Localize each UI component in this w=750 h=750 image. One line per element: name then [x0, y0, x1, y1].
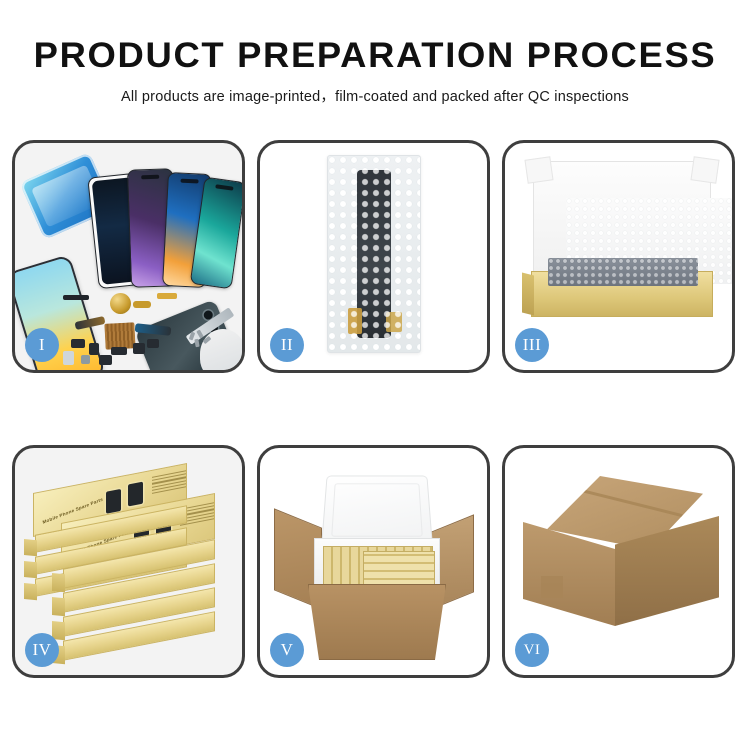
panel-badge-6: VI: [515, 633, 549, 667]
small-part: [89, 343, 99, 355]
bubble-wrapped-contents: [548, 258, 698, 286]
box-side-panel: [522, 273, 534, 316]
open-carton: [274, 466, 474, 664]
notch-icon: [180, 179, 198, 184]
header: PRODUCT PREPARATION PROCESS All products…: [0, 0, 750, 106]
panel-sealed-carton[interactable]: VI: [502, 445, 735, 678]
connector-part: [157, 293, 177, 299]
small-part: [147, 339, 159, 348]
panel-bubble-wrap[interactable]: II: [257, 140, 490, 373]
yellow-boxes-row: [363, 551, 435, 587]
small-part: [71, 339, 85, 348]
box-label-image: [128, 482, 143, 507]
box-side: [24, 583, 37, 600]
connector-part: [133, 301, 151, 308]
notch-icon: [103, 180, 121, 186]
small-part: [81, 355, 90, 364]
phone-fan-group: [85, 157, 235, 287]
bubble-wrap-bag: [327, 155, 421, 353]
small-part: [63, 351, 74, 365]
process-grid: I II III: [12, 140, 738, 678]
styrofoam-tray: [314, 538, 440, 592]
screws-group: [190, 330, 216, 348]
panel-badge-4: IV: [25, 633, 59, 667]
panel-badge-3: III: [515, 328, 549, 362]
yellow-box-body: [531, 271, 713, 317]
product-preparation-infographic: PRODUCT PREPARATION PROCESS All products…: [0, 0, 750, 750]
panel-stacked-boxes[interactable]: Mobile Phone Spare Parts Mobile Phone Sp…: [12, 445, 245, 678]
styrofoam-lid: [321, 476, 433, 547]
box-side: [24, 539, 37, 556]
notch-icon: [141, 175, 159, 180]
bubble-texture: [328, 156, 420, 352]
box-label-lines: [152, 470, 186, 499]
carton-tape-mark: [541, 576, 563, 598]
small-part: [133, 343, 145, 354]
notch-icon: [215, 184, 233, 190]
chip-grid-part: [104, 322, 135, 350]
vibration-motor-part: [110, 293, 131, 314]
box-stack: Mobile Phone Spare Parts Mobile Phone Sp…: [23, 470, 235, 656]
box-side: [52, 573, 65, 592]
box-side: [24, 561, 37, 578]
small-part: [99, 355, 112, 365]
panel-badge-1: I: [25, 328, 59, 362]
panel-badge-5: V: [270, 633, 304, 667]
earpiece-part: [63, 295, 89, 300]
panel-inner-box[interactable]: III: [502, 140, 735, 373]
panel-products[interactable]: I: [12, 140, 245, 373]
page-title: PRODUCT PREPARATION PROCESS: [0, 38, 750, 73]
panel-badge-2: II: [270, 328, 304, 362]
sealed-carton: [523, 476, 719, 652]
panel-styrofoam-carton[interactable]: V: [257, 445, 490, 678]
box-label-image: [106, 489, 121, 514]
page-subtitle: All products are image-printed，film-coat…: [0, 85, 750, 106]
box-side: [52, 597, 65, 616]
small-part: [111, 347, 127, 355]
carton-front-panel: [308, 584, 446, 660]
